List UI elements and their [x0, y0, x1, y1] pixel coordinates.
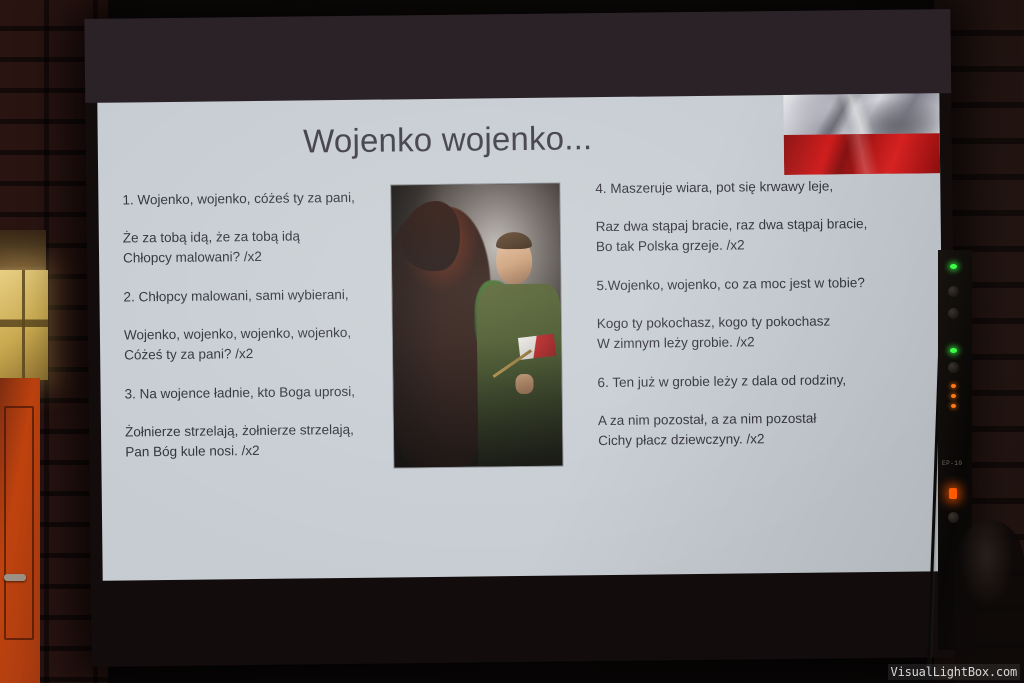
- verse-5-head: 5.Wojenko, wojenko, co za moc jest w tob…: [596, 272, 941, 296]
- projection-screen: Wojenko wojenko... 1. Wojenko, wojenko, …: [84, 9, 957, 667]
- verse-6-head: 6. Ten już w grobie leży z dala od rodzi…: [597, 369, 942, 393]
- status-led-amber-2: [951, 394, 956, 398]
- verse-2-head: 2. Chłopcy malowani, sami wybierani,: [123, 284, 403, 307]
- watermark: VisualLightBox.com: [888, 664, 1020, 680]
- verse-5: 5.Wojenko, wojenko, co za moc jest w tob…: [596, 272, 942, 354]
- photo-shading-overlay: [391, 184, 562, 468]
- verse-4: 4. Maszeruje wiara, pot się krwawy leje,…: [595, 175, 941, 257]
- status-led-orange: [949, 488, 957, 499]
- status-led-amber-1: [951, 384, 956, 388]
- rack-knob-3[interactable]: [948, 362, 959, 373]
- verse-1: 1. Wojenko, wojenko, cóżeś ty za pani, Ż…: [122, 187, 403, 268]
- transom-window: [0, 270, 48, 380]
- lyrics-column-left: 1. Wojenko, wojenko, cóżeś ty za pani, Ż…: [122, 187, 405, 481]
- verse-3: 3. Na wojence ładnie, kto Boga uprosi, Ż…: [124, 381, 405, 462]
- door-panel: [4, 406, 34, 640]
- status-led-green-2: [950, 348, 957, 353]
- rack-knob-2[interactable]: [948, 308, 959, 319]
- verse-3-line-2: Pan Bóg kule nosi. /x2: [125, 439, 405, 462]
- slide-title: Wojenko wojenko...: [98, 117, 798, 163]
- screen-top-border: [84, 9, 951, 103]
- rack-knob-1[interactable]: [948, 286, 959, 297]
- door-handle: [4, 574, 26, 581]
- verse-1-line-2: Chłopcy malowani? /x2: [123, 245, 403, 268]
- verse-1-head: 1. Wojenko, wojenko, cóżeś ty za pani,: [122, 187, 402, 210]
- person-silhouette: [955, 520, 1024, 683]
- flag-white-stripe: [783, 93, 939, 135]
- verse-6-line-2: Cichy płacz dziewczyny. /x2: [598, 427, 943, 451]
- status-led-amber-3: [951, 404, 956, 408]
- verse-3-head: 3. Na wojence ładnie, kto Boga uprosi,: [124, 381, 404, 404]
- verse-2: 2. Chłopcy malowani, sami wybierani, Woj…: [123, 284, 404, 365]
- room-photograph: Wojenko wojenko... 1. Wojenko, wojenko, …: [0, 0, 1024, 683]
- flag-red-stripe: [784, 133, 940, 175]
- room-door: [0, 378, 40, 683]
- polish-flag-icon: [783, 93, 940, 175]
- verse-6: 6. Ten już w grobie leży z dala od rodzi…: [597, 369, 943, 451]
- verse-4-head: 4. Maszeruje wiara, pot się krwawy leje,: [595, 175, 940, 199]
- verse-4-line-2: Bo tak Polska grzeje. /x2: [596, 233, 941, 257]
- verse-2-line-2: Cóżeś ty za pani? /x2: [124, 342, 404, 365]
- presentation-slide: Wojenko wojenko... 1. Wojenko, wojenko, …: [97, 93, 944, 581]
- verse-5-line-2: W zimnym leży grobie. /x2: [597, 330, 942, 354]
- status-led-green-1: [950, 264, 957, 269]
- rack-model-label: EP-10: [942, 460, 963, 467]
- rack-knob-4[interactable]: [948, 512, 959, 523]
- slide-photo-soldier-and-horse: [391, 184, 562, 468]
- lyrics-column-right: 4. Maszeruje wiara, pot się krwawy leje,…: [595, 175, 943, 470]
